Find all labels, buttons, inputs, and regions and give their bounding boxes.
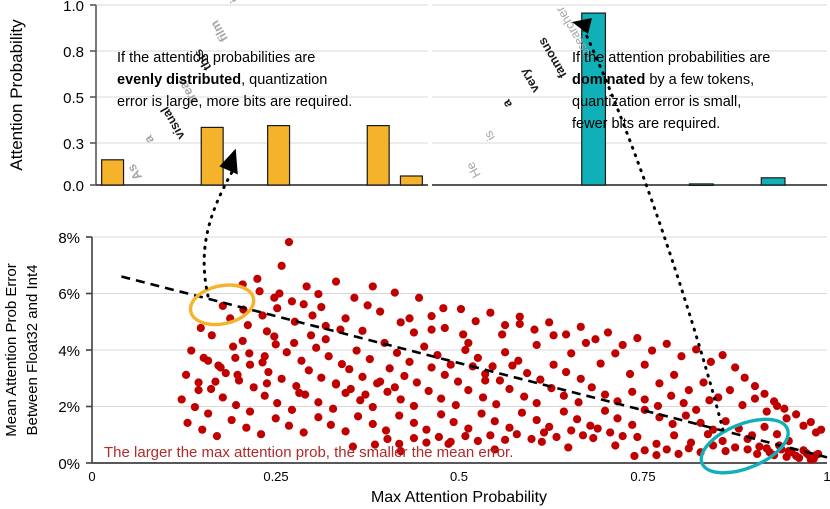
scatter-point [516, 313, 524, 321]
scatter-point [187, 346, 195, 354]
scatter-point [799, 422, 807, 430]
scatter-point [705, 396, 713, 404]
scatter-point [707, 358, 715, 366]
scatter-point [376, 307, 384, 315]
scatter-point [208, 331, 216, 339]
scatter-point [782, 414, 790, 422]
scatter-point [597, 359, 605, 367]
scatter-point [606, 428, 614, 436]
scatter-point [327, 421, 335, 429]
left-y-axis-label: Attention Probability [7, 19, 26, 171]
scatter-point [427, 326, 435, 334]
scatter-point [669, 420, 677, 428]
scatter-point [437, 394, 445, 402]
scatter-point [439, 304, 447, 312]
scatter-x-axis-label: Max Attention Probability [371, 489, 547, 506]
scatter-point [652, 451, 660, 459]
scatter-point [353, 346, 361, 354]
scatter-xtick-05: 0.5 [450, 469, 468, 484]
scatter-point [447, 361, 455, 369]
scatter-point [332, 278, 340, 286]
right-token-famous: famous [535, 35, 569, 81]
left-annotation-rest: , quantization [241, 72, 327, 88]
scatter-point [763, 407, 771, 415]
scatter-xtick-025: 0.25 [263, 469, 288, 484]
scatter-point [588, 383, 596, 391]
bar-As[interactable] [102, 160, 124, 185]
scatter-point [300, 428, 308, 436]
scatter-point [491, 417, 499, 425]
scatter-point [582, 339, 590, 347]
bar-treat[interactable] [201, 127, 223, 185]
scatter-point [354, 412, 362, 420]
scatter-point [755, 443, 763, 451]
scatter-point [501, 348, 509, 356]
scatter-point [191, 403, 199, 411]
scatter-point [577, 323, 585, 331]
scatter-point [437, 410, 445, 418]
scatter-point [628, 388, 636, 396]
scatter-point [422, 426, 430, 434]
scatter-point [741, 374, 749, 382]
scatter-point [577, 375, 585, 383]
scatter-point [780, 405, 788, 413]
scatter-point [231, 354, 239, 362]
scatter-point [719, 351, 727, 359]
scatter-point [183, 419, 191, 427]
scatter-point [420, 343, 428, 351]
scatter-point [751, 382, 759, 390]
scatter-point [386, 364, 394, 372]
scatter-point [773, 430, 781, 438]
scatter-point [619, 341, 627, 349]
scatter-point [513, 430, 521, 438]
scatter-point [579, 431, 587, 439]
scatter-point [530, 326, 538, 334]
scatter-trendline [121, 277, 827, 458]
scatter-point [770, 397, 778, 405]
scatter-point [721, 447, 729, 455]
scatter-point [540, 428, 548, 436]
scatter-point [533, 399, 541, 407]
scatter-point [486, 431, 494, 439]
scatter-point [410, 419, 418, 427]
scatter-xtick-1: 1 [823, 469, 830, 484]
scatter-point [760, 390, 768, 398]
scatter-point [604, 328, 612, 336]
scatter-point [305, 366, 313, 374]
scatter-point [630, 452, 638, 460]
scatter-point [283, 348, 291, 356]
scatter-point [358, 373, 366, 381]
scatter-point [410, 434, 418, 442]
bar-area[interactable] [761, 178, 785, 185]
scatter-point [391, 289, 399, 297]
scatter-point [194, 386, 202, 394]
scatter-point [207, 385, 215, 393]
scatter-point [405, 314, 413, 322]
scatter-point [229, 343, 237, 351]
scatter-point [574, 398, 582, 406]
scatter-point [270, 332, 278, 340]
scatter-point [486, 309, 494, 317]
scatter-point [391, 383, 399, 391]
scatter-point [297, 357, 305, 365]
scatter-ytick-2: 2% [58, 399, 80, 416]
scatter-point [536, 376, 544, 384]
scatter-point [233, 371, 241, 379]
left-ytick-0_5: 0.5 [63, 90, 84, 107]
scatter-point [549, 361, 557, 369]
svg-text:evenly distributed, quantizati: evenly distributed, quantization [117, 72, 327, 88]
scatter-point [383, 388, 391, 396]
scatter-point [464, 424, 472, 432]
scatter-point [589, 434, 597, 442]
scatter-point [680, 399, 688, 407]
left-annotation: If the attention probabilities are evenl… [117, 50, 352, 110]
scatter-point [246, 407, 254, 415]
scatter-point [204, 409, 212, 417]
scatter-point [641, 361, 649, 369]
scatter-point [496, 376, 504, 384]
scatter-point [325, 352, 333, 360]
scatter-point [795, 454, 803, 462]
scatter-point [704, 430, 712, 438]
scatter-point [641, 446, 649, 454]
left-y-ticks [90, 5, 96, 185]
scatter-point [692, 406, 700, 414]
scatter-point [807, 418, 815, 426]
scatter-point [264, 368, 272, 376]
scatter-point [549, 331, 557, 339]
scatter-point [817, 426, 825, 434]
scatter-point [641, 395, 649, 403]
bar-perfect[interactable] [367, 126, 389, 185]
scatter-point [674, 450, 682, 458]
scatter-point [415, 294, 423, 302]
scatter-point [288, 406, 296, 414]
scatter-point [464, 386, 472, 394]
scatter-point [792, 410, 800, 418]
scatter-point [562, 330, 570, 338]
right-token-very: very [517, 66, 542, 95]
scatter-point [601, 391, 609, 399]
scatter-point [545, 318, 553, 326]
right-annotation-line1: If the attention probabilities are [572, 50, 770, 66]
scatter-point [273, 304, 281, 312]
scatter-point [395, 411, 403, 419]
scatter-point [464, 339, 472, 347]
right-annotation-line3: quantization error is small, [572, 94, 741, 110]
scatter-point [307, 331, 315, 339]
scatter-point [611, 441, 619, 449]
scatter-point [685, 386, 693, 394]
scatter-point [295, 389, 303, 397]
scatter-point [369, 420, 377, 428]
scatter-point [338, 360, 346, 368]
scatter-point [501, 436, 509, 444]
scatter-point [369, 282, 377, 290]
scatter-point [303, 282, 311, 290]
scatter-point [461, 346, 469, 354]
scatter-point [501, 321, 509, 329]
scatter-point [178, 395, 186, 403]
scatter-point [633, 334, 641, 342]
scatter-point [245, 349, 253, 357]
scatter-point [498, 330, 506, 338]
scatter-point [670, 371, 678, 379]
scatter-point [358, 327, 366, 335]
scatter-point [523, 369, 531, 377]
scatter-point [345, 365, 353, 373]
scatter-point [397, 318, 405, 326]
scatter-y-axis-label-line1: Mean Attention Prob Error [3, 263, 20, 436]
scatter-point [560, 392, 568, 400]
scatter-point [474, 354, 482, 362]
callout-curve-left [204, 172, 232, 296]
scatter-point [520, 393, 528, 401]
left-annotation-line3: error is large, more bits are required. [117, 94, 352, 110]
scatter-point [312, 344, 320, 352]
scatter-point [538, 438, 546, 446]
left-token-is: is [224, 0, 241, 5]
scatter-point [405, 358, 413, 366]
scatter-point [232, 401, 240, 409]
scatter-point [744, 445, 752, 453]
scatter-point [410, 402, 418, 410]
left-annotation-line1: If the attention probabilities are [117, 50, 315, 66]
bar-computer[interactable] [689, 184, 713, 186]
scatter-point [731, 363, 739, 371]
svg-text:dominated by a few tokens,: dominated by a few tokens, [572, 72, 754, 88]
left-ytick-0_0: 0.0 [63, 178, 84, 195]
scatter-xtick-0: 0 [88, 469, 95, 484]
scatter-point [527, 435, 535, 443]
scatter-point [594, 424, 602, 432]
scatter-point [341, 314, 349, 322]
scatter-point [272, 340, 280, 348]
left-token-film: film [208, 18, 231, 44]
left-token-As: As [125, 162, 145, 183]
scatter-point [682, 411, 690, 419]
scatter-point [479, 393, 487, 401]
scatter-point [217, 363, 225, 371]
scatter-point [699, 378, 707, 386]
left-bars [102, 126, 423, 185]
scatter-annotation-text: The larger the max attention prob, the s… [104, 444, 513, 461]
scatter-point [242, 424, 250, 432]
scatter-point [667, 392, 675, 400]
scatter-point [350, 294, 358, 302]
right-token-a: a [499, 96, 515, 110]
scatter-point [253, 275, 261, 283]
left-ytick-0_8: 0.8 [63, 44, 84, 61]
scatter-point [257, 430, 265, 438]
scatter-point [383, 435, 391, 443]
scatter-point [425, 387, 433, 395]
scatter-point [427, 312, 435, 320]
scatter-point [452, 401, 460, 409]
scatter-point [332, 379, 340, 387]
scatter-point [481, 376, 489, 384]
scatter-point [182, 371, 190, 379]
scatter-point [719, 437, 727, 445]
scatter-point [648, 346, 656, 354]
scatter-point [567, 426, 575, 434]
scatter-point [812, 451, 820, 459]
scatter-point [290, 339, 298, 347]
right-annotation-rest: by a few tokens, [645, 72, 754, 88]
scatter-point [270, 294, 278, 302]
scatter-point [314, 290, 322, 298]
scatter-point [285, 238, 293, 246]
scatter-point [763, 444, 771, 452]
scatter-y-ticks [86, 237, 92, 463]
scatter-point [413, 378, 421, 386]
scatter-point [244, 321, 252, 329]
scatter-point [300, 300, 308, 308]
scatter-point [361, 391, 369, 399]
scatter-point [562, 368, 570, 376]
scatter-point [393, 349, 401, 357]
scatter-point [204, 357, 212, 365]
scatter-point [633, 433, 641, 441]
left-ytick-1_0: 1.0 [63, 0, 84, 15]
right-token-is: is [481, 128, 498, 143]
scatter-point [652, 440, 660, 448]
scatter-point [261, 352, 269, 360]
bar-film[interactable] [268, 126, 290, 185]
scatter-xtick-075: 0.75 [630, 469, 655, 484]
scatter-point [753, 450, 761, 458]
left-token-almost: almost [240, 0, 273, 2]
scatter-point [731, 443, 739, 451]
figure-root: 1.0 0.8 0.5 0.3 0.0 Attention Probabilit… [0, 0, 830, 509]
scatter-point [273, 399, 281, 407]
left-annotation-bold: evenly distributed [117, 72, 241, 88]
scatter-point [366, 355, 374, 363]
scatter-point [454, 378, 462, 386]
scatter-point [317, 374, 325, 382]
scatter-point [488, 362, 496, 370]
scatter-ytick-8: 8% [58, 230, 80, 247]
scatter-point [760, 423, 768, 431]
scatter-point [670, 431, 678, 439]
scatter-point [194, 378, 202, 386]
scatter-point [211, 378, 219, 386]
scatter-point [611, 349, 619, 357]
scatter-point [573, 415, 581, 423]
scatter-point [400, 372, 408, 380]
scatter-point [308, 311, 316, 319]
scatter-point [613, 414, 621, 422]
scatter-point [288, 297, 296, 305]
figure-svg: 1.0 0.8 0.5 0.3 0.0 Attention Probabilit… [0, 0, 830, 509]
scatter-ytick-4: 4% [58, 343, 80, 360]
scatter-point [317, 303, 325, 311]
scatter-point [552, 433, 560, 441]
scatter-point [250, 383, 258, 391]
scatter-point [663, 340, 671, 348]
scatter-point [410, 328, 418, 336]
scatter-point [505, 385, 513, 393]
scatter-point [261, 392, 269, 400]
scatter-point [435, 433, 443, 441]
scatter-point [677, 352, 685, 360]
right-annotation-line4: fewer bits are required. [572, 116, 720, 132]
left-ytick-0_3: 0.3 [63, 136, 84, 153]
scatter-point [619, 432, 627, 440]
scatter-ytick-0: 0% [58, 456, 80, 473]
scatter-point [626, 370, 634, 378]
scatter-point [322, 335, 330, 343]
scatter-point [427, 363, 435, 371]
scatter-point [655, 379, 663, 387]
scatter-point [255, 287, 263, 295]
scatter-point [567, 349, 575, 357]
scatter-point [477, 409, 485, 417]
left-token-a: a [141, 132, 157, 146]
scatter-point [533, 341, 541, 349]
scatter-point [272, 414, 280, 422]
scatter-point [721, 417, 729, 425]
scatter-point [601, 407, 609, 415]
right-annotation-bold: dominated [572, 72, 645, 88]
scatter-point [726, 386, 734, 394]
scatter-point [285, 422, 293, 430]
scatter-point [198, 426, 206, 434]
scatter-point [219, 393, 227, 401]
scatter-ytick-6: 6% [58, 286, 80, 303]
scatter-point [341, 427, 349, 435]
scatter-point [263, 327, 271, 335]
scatter-point [278, 375, 286, 383]
scatter-point [518, 409, 526, 417]
scatter-point [505, 424, 513, 432]
scatter-point [472, 317, 480, 325]
scatter-point [314, 398, 322, 406]
scatter-point [246, 361, 254, 369]
scatter-point [329, 405, 337, 413]
scatter-point [564, 443, 572, 451]
scatter-point [459, 330, 467, 338]
scatter-point [441, 371, 449, 379]
scatter-point [239, 337, 247, 345]
scatter-point [685, 444, 693, 452]
scatter-point [228, 416, 236, 424]
scatter-point [347, 385, 355, 393]
scatter-point [586, 422, 594, 430]
scatter-point [492, 400, 500, 408]
scatter-point [738, 401, 746, 409]
right-token-He: He [463, 159, 483, 180]
bar-period[interactable] [400, 176, 422, 185]
scatter-point [197, 324, 205, 332]
panel-right-attention: He is a very famous researcher in comput… [432, 0, 827, 208]
scatter-point [376, 378, 384, 386]
scatter-point [533, 416, 541, 424]
scatter-point [382, 426, 390, 434]
scatter-point [457, 305, 465, 313]
scatter-point [508, 361, 516, 369]
scatter-point [278, 262, 286, 270]
scatter-point [314, 413, 322, 421]
scatter-point [560, 407, 568, 415]
scatter-point [516, 320, 524, 328]
scatter-point [369, 403, 377, 411]
scatter-point [751, 394, 759, 402]
scatter-y-axis-label-line2: Between Float32 and Int4 [24, 265, 41, 436]
